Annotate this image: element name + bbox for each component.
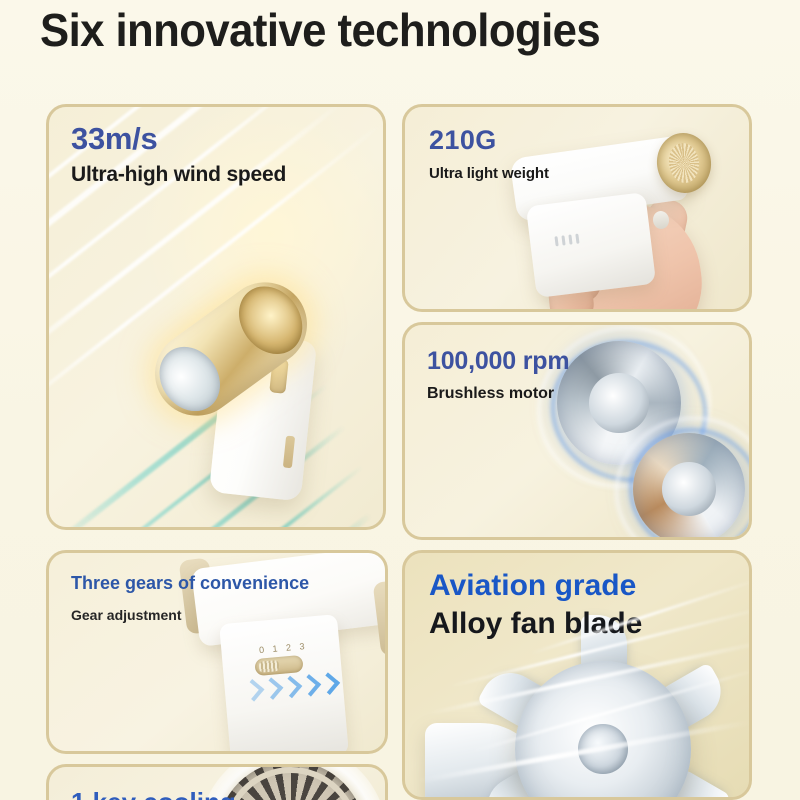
card-headline: Three gears of convenience: [71, 573, 309, 594]
card-headline: 33m/s: [71, 121, 157, 157]
card-headline: Aviation grade: [429, 569, 636, 603]
feature-card-weight[interactable]: 210G Ultra light weight: [402, 104, 752, 312]
card-subtitle: Ultra light weight: [429, 165, 549, 182]
feature-card-cooling[interactable]: 1 key cooling: [46, 764, 388, 800]
page-title: Six innovative technologies: [40, 2, 734, 58]
feature-card-wind-speed[interactable]: 33m/s Ultra-high wind speed: [46, 104, 386, 530]
card-headline: 100,000 rpm: [427, 347, 569, 376]
motor-rotor: [633, 433, 745, 537]
card-headline: 210G: [429, 125, 497, 156]
infographic-page: Six innovative technologies 3: [0, 0, 800, 800]
feature-card-motor[interactable]: 100,000 rpm Brushless motor: [402, 322, 752, 540]
fan-grip: [526, 192, 656, 298]
feature-card-gears[interactable]: 0 1 2 3 Three gears of convenience Gear …: [46, 550, 388, 754]
card-subtitle: Alloy fan blade: [429, 607, 642, 641]
card-subtitle: Gear adjustment: [71, 607, 181, 623]
feature-card-blade[interactable]: Aviation grade Alloy fan blade: [402, 550, 752, 800]
card-headline: 1 key cooling: [71, 787, 236, 800]
card-subtitle: Brushless motor: [427, 385, 554, 403]
card-subtitle: Ultra-high wind speed: [71, 163, 286, 187]
